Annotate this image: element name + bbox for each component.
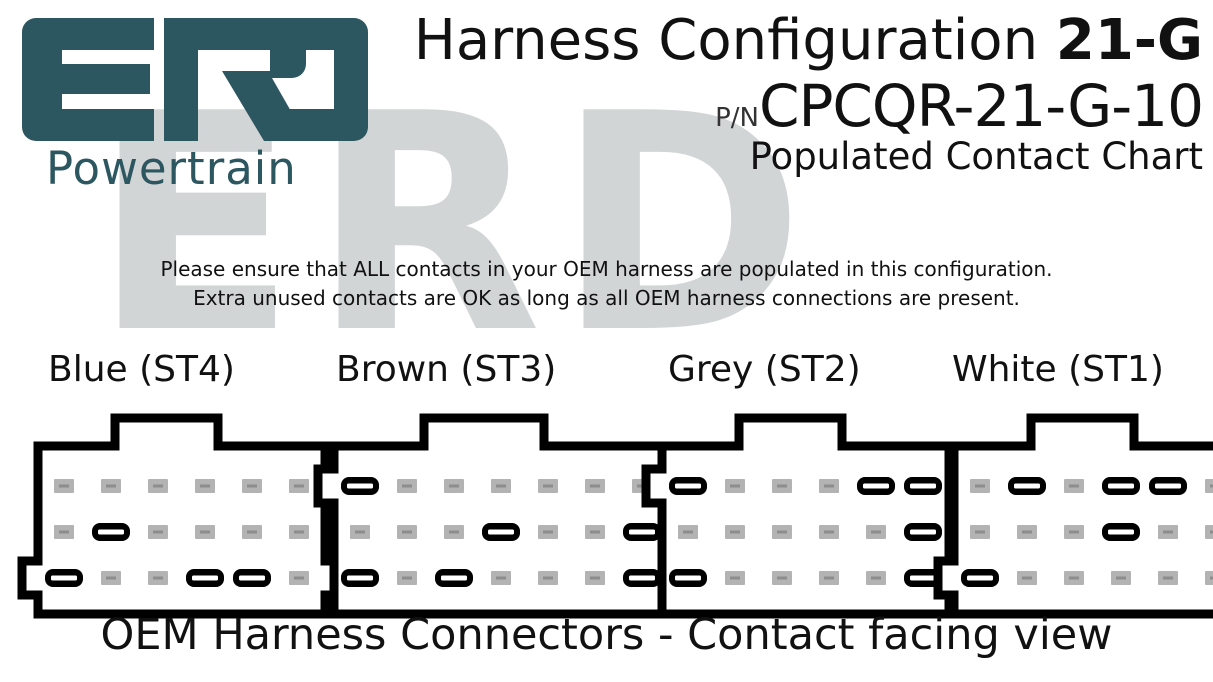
- contact-populated: [669, 477, 707, 495]
- contact-empty: [54, 479, 74, 493]
- contact-empty: [101, 571, 121, 585]
- connector-label-st4: Blue (ST4): [48, 352, 235, 388]
- contact-empty: [1205, 525, 1213, 539]
- contact-empty: [1111, 571, 1131, 585]
- contact-empty: [1158, 525, 1178, 539]
- contact-empty: [397, 479, 417, 493]
- contact-empty: [195, 479, 215, 493]
- contact-empty: [1158, 571, 1178, 585]
- contact-empty: [725, 479, 745, 493]
- contact-empty: [101, 479, 121, 493]
- erd-logo: Powertrain: [18, 18, 368, 188]
- contact-populated: [45, 569, 83, 587]
- connector-housing-outline: [646, 418, 974, 623]
- harness-contact-chart-page: ERD Powertrain Powertrain Harness Config…: [0, 0, 1213, 682]
- contact-populated: [904, 477, 942, 495]
- connector-diagram-st3: [318, 418, 693, 623]
- page-header: Harness Configuration 21-G P/NCPCQR-21-G…: [363, 12, 1203, 177]
- contact-empty: [538, 479, 558, 493]
- connector-label-st3: Brown (ST3): [336, 352, 556, 388]
- contact-empty: [1064, 571, 1084, 585]
- contact-empty: [195, 525, 215, 539]
- connector-housing-outline: [22, 418, 350, 623]
- contact-empty: [148, 525, 168, 539]
- connector-diagrams-row: [0, 418, 1213, 608]
- contact-empty: [148, 479, 168, 493]
- contact-empty: [538, 571, 558, 585]
- part-number-line: P/NCPCQR-21-G-10: [363, 77, 1203, 135]
- contact-populated: [904, 523, 942, 541]
- contact-empty: [772, 525, 792, 539]
- contact-empty: [819, 479, 839, 493]
- contact-empty: [444, 525, 464, 539]
- contact-empty: [242, 479, 262, 493]
- contact-populated: [857, 477, 895, 495]
- contact-empty: [444, 479, 464, 493]
- contact-empty: [1205, 571, 1213, 585]
- connector-diagram-st2: [646, 418, 974, 623]
- connector-diagram-st4: [22, 418, 350, 623]
- contact-empty: [585, 525, 605, 539]
- contact-empty: [970, 479, 990, 493]
- contact-empty: [678, 525, 698, 539]
- page-title-config: 21-G: [1056, 8, 1203, 73]
- contact-empty: [538, 525, 558, 539]
- notice-line-1: Please ensure that ALL contacts in your …: [0, 255, 1213, 284]
- erd-logomark-icon: [18, 18, 368, 143]
- contact-empty: [148, 571, 168, 585]
- contact-populated: [961, 569, 999, 587]
- contact-populated: [1008, 477, 1046, 495]
- contact-empty: [289, 571, 309, 585]
- contact-empty: [866, 525, 886, 539]
- page-title-prefix: Harness Configuration: [414, 8, 1056, 73]
- contact-populated: [186, 569, 224, 587]
- contact-empty: [725, 525, 745, 539]
- contact-empty: [397, 525, 417, 539]
- contact-empty: [819, 571, 839, 585]
- contact-empty: [397, 571, 417, 585]
- contact-empty: [289, 525, 309, 539]
- contact-empty: [1017, 571, 1037, 585]
- contact-populated: [1102, 477, 1140, 495]
- connector-label-st2: Grey (ST2): [668, 352, 861, 388]
- contact-populated: [1102, 523, 1140, 541]
- contact-empty: [1064, 479, 1084, 493]
- contact-populated: [482, 523, 520, 541]
- contact-empty: [1064, 525, 1084, 539]
- connector-label-st1: White (ST1): [952, 352, 1164, 388]
- contact-empty: [772, 479, 792, 493]
- contact-populated: [435, 569, 473, 587]
- logo-subtitle: Powertrain: [46, 146, 297, 191]
- connector-housing-outline: [938, 418, 1213, 623]
- contact-populated: [341, 477, 379, 495]
- page-title: Harness Configuration 21-G: [363, 12, 1203, 71]
- contact-empty: [491, 479, 511, 493]
- notice-line-2: Extra unused contacts are OK as long as …: [0, 284, 1213, 313]
- contact-empty: [491, 571, 511, 585]
- contact-empty: [970, 525, 990, 539]
- page-caption: OEM Harness Connectors - Contact facing …: [0, 612, 1213, 659]
- contact-empty: [772, 571, 792, 585]
- contact-empty: [54, 525, 74, 539]
- contact-populated: [341, 569, 379, 587]
- connector-housing-outline: [318, 418, 693, 623]
- connector-labels-row: Blue (ST4) Brown (ST3) Grey (ST2) White …: [0, 352, 1213, 398]
- contact-empty: [585, 479, 605, 493]
- page-subtitle: Populated Contact Chart: [363, 137, 1203, 178]
- contact-populated: [669, 569, 707, 587]
- contact-empty: [1205, 479, 1213, 493]
- contact-empty: [585, 571, 605, 585]
- contact-empty: [242, 525, 262, 539]
- part-number-value: CPCQR-21-G-10: [759, 72, 1203, 140]
- connector-diagram-st1: [938, 418, 1213, 623]
- contact-populated: [1149, 477, 1187, 495]
- contact-empty: [1017, 525, 1037, 539]
- contact-populated: [233, 569, 271, 587]
- notice-block: Please ensure that ALL contacts in your …: [0, 255, 1213, 313]
- contact-empty: [350, 525, 370, 539]
- contact-empty: [289, 479, 309, 493]
- contact-empty: [866, 571, 886, 585]
- contact-empty: [725, 571, 745, 585]
- contact-populated: [92, 523, 130, 541]
- part-number-label: P/N: [715, 103, 759, 133]
- contact-empty: [819, 525, 839, 539]
